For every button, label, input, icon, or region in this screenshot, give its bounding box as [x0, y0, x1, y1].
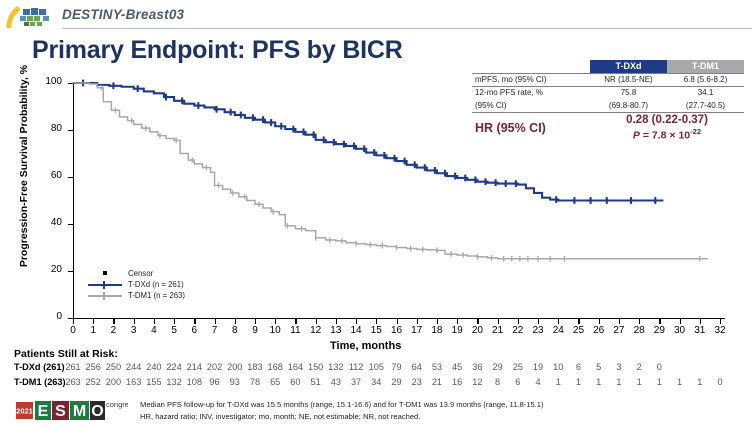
risk-table-title: Patients Still at Risk:	[14, 348, 752, 360]
slide-header: DESTINY-Breast03	[0, 0, 752, 30]
legend-item-tdxd: T-DXd (n = 261)	[88, 279, 185, 290]
patients-at-risk-table: Patients Still at Risk: T-DXd (261) 2612…	[14, 348, 752, 391]
risk-value: 0	[647, 362, 671, 372]
footnote-line-2: HR, hazard ratio; INV, investigator; mo,…	[140, 411, 744, 423]
legend-item-tdm1: T-DM1 (n = 263)	[88, 290, 185, 301]
tdm1-line-icon	[88, 290, 122, 301]
tdxd-censor-marks	[83, 80, 655, 204]
tdxd-curve	[73, 83, 663, 201]
esmo-arc-icon	[6, 3, 60, 29]
tdm1-censor-marks	[101, 85, 699, 262]
legend-label: T-DXd (n = 261)	[122, 280, 184, 289]
svg-text:O: O	[91, 403, 103, 420]
risk-value: 0	[708, 377, 732, 387]
tdxd-line-icon	[88, 279, 122, 290]
tdm1-curve	[73, 83, 708, 259]
table-row: T-DXd (261) 2612562502442402242142022001…	[14, 361, 752, 376]
svg-text:congress: congress	[106, 400, 128, 409]
svg-text:2021: 2021	[16, 407, 33, 416]
table-row: T-DM1 (263) 2632522001631551321089693786…	[14, 376, 752, 391]
censor-marker-icon	[88, 268, 122, 279]
esmo-logo: 2021 E S M O congress	[16, 398, 128, 424]
chart-legend: Censor T-DXd (n = 261) T-DM1 (n = 263)	[88, 268, 185, 301]
page-title: Primary Endpoint: PFS by BICR	[32, 36, 403, 65]
slide-footer: 2021 E S M O congress Median PFS follow-…	[0, 396, 752, 428]
svg-text:S: S	[55, 403, 66, 420]
header-divider	[62, 28, 752, 29]
kaplan-meier-chart: Progression-Free Survival Probability, %…	[0, 72, 752, 330]
svg-text:E: E	[38, 403, 49, 420]
legend-label: Censor	[122, 269, 153, 278]
footnotes: Median PFS follow-up for T-DXd was 15.5 …	[140, 399, 744, 423]
legend-item-censor: Censor	[88, 268, 185, 279]
legend-label: T-DM1 (n = 263)	[122, 291, 185, 300]
risk-row-label-tdm1: T-DM1 (263)	[14, 377, 66, 387]
risk-row-label-tdxd: T-DXd (261)	[14, 362, 65, 372]
svg-text:M: M	[73, 403, 86, 420]
study-name: DESTINY-Breast03	[62, 7, 184, 22]
footnote-line-1: Median PFS follow-up for T-DXd was 15.5 …	[140, 399, 744, 411]
